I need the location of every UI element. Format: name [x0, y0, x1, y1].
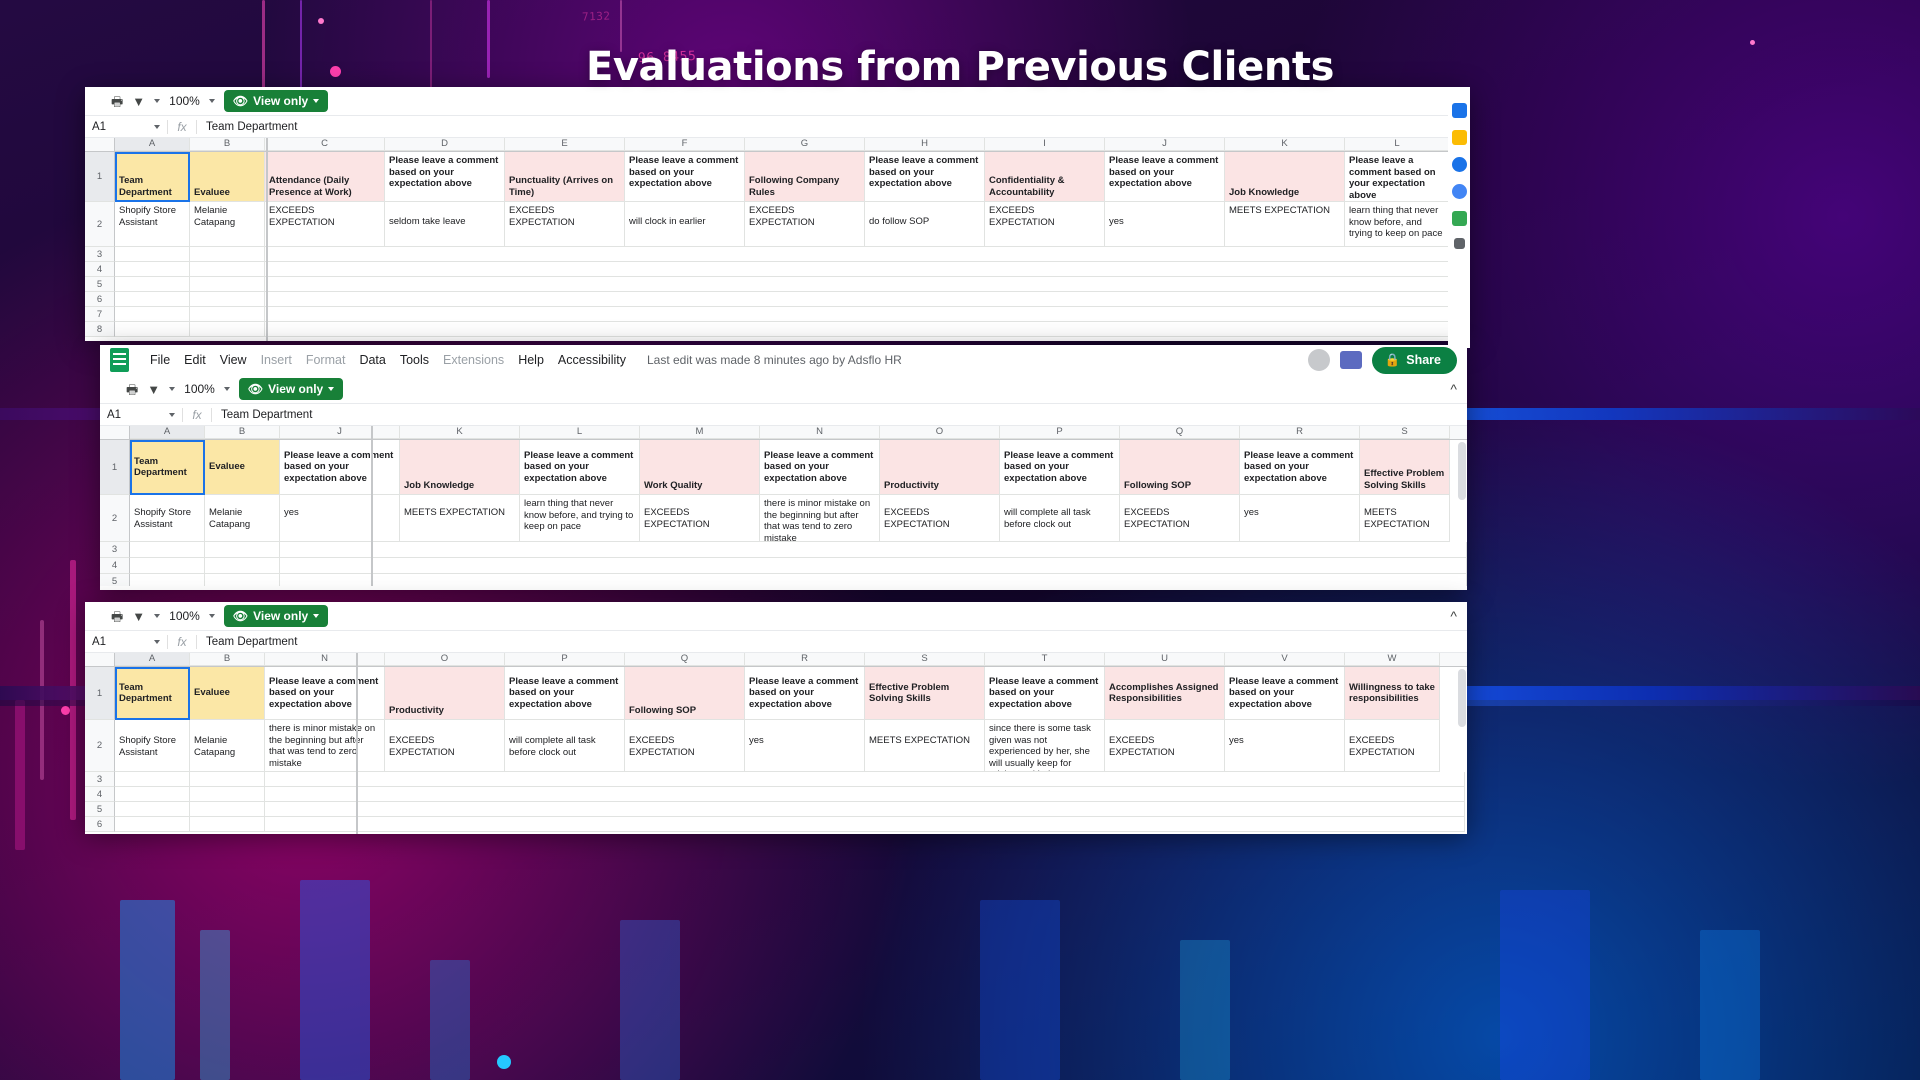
empty-cell[interactable] — [265, 322, 1470, 337]
cell-L2[interactable]: learn thing that never know before, and … — [520, 495, 640, 542]
menu-bar-right-2: 🔒 Share — [1308, 347, 1457, 374]
view-only-button[interactable]: 👁 View only — [224, 605, 328, 627]
cell-A1[interactable]: Team Department — [130, 440, 205, 495]
table-row-1: 1 Team Department Evaluee Attendance (Da… — [85, 152, 1470, 202]
cell-P1[interactable]: Please leave a comment based on your exp… — [505, 667, 625, 720]
cell-J2[interactable]: yes — [280, 495, 400, 542]
view-only-button[interactable]: 👁 View only — [239, 378, 343, 400]
cell-G1[interactable]: Following Company Rules — [745, 152, 865, 202]
view-only-caret-icon — [328, 387, 334, 391]
cell-A2[interactable]: Shopify Store Assistant — [115, 202, 190, 247]
empty-cell[interactable] — [190, 247, 265, 262]
filter-caret-icon[interactable] — [154, 99, 160, 103]
bg-dot — [61, 706, 70, 715]
col-header-R[interactable]: R — [1240, 426, 1360, 439]
row-header-4[interactable]: 4 — [85, 262, 115, 277]
cell-W1[interactable]: Willingness to take responsibilities — [1345, 667, 1440, 720]
cell-W2[interactable]: EXCEEDS EXPECTATION — [1345, 720, 1440, 772]
empty-cell[interactable] — [265, 262, 1470, 277]
col-header-M[interactable]: M — [640, 426, 760, 439]
menu-insert[interactable]: Insert — [254, 350, 299, 370]
name-box-2[interactable]: A1 — [100, 409, 182, 421]
table-row-4: 4 — [100, 558, 1467, 574]
contacts-icon[interactable] — [1452, 184, 1467, 199]
bg-bar — [15, 700, 25, 850]
cell-B1[interactable]: Evaluee — [190, 152, 265, 202]
empty-cell[interactable] — [190, 277, 265, 292]
empty-cell[interactable] — [130, 542, 205, 558]
select-all-corner-3[interactable] — [85, 653, 115, 666]
cell-N1[interactable]: Please leave a comment based on your exp… — [265, 667, 385, 720]
row-header-1[interactable]: 1 — [100, 440, 130, 495]
cell-O1[interactable]: Productivity — [880, 440, 1000, 495]
empty-cell[interactable] — [205, 574, 280, 586]
empty-cell[interactable] — [115, 262, 190, 277]
cell-O1[interactable]: Productivity — [385, 667, 505, 720]
col-header-C[interactable]: C — [265, 138, 385, 151]
name-box-caret-icon[interactable] — [154, 125, 160, 129]
toolbar-2[interactable]: 🖶 ▼ 100% 👁 View only ^ — [100, 375, 1467, 404]
zoom-level[interactable]: 100% — [169, 609, 200, 623]
cell-B2[interactable]: Melanie Catapang — [190, 720, 265, 772]
cell-O2[interactable]: EXCEEDS EXPECTATION — [880, 495, 1000, 542]
table-row-3: 3 — [85, 772, 1467, 787]
eye-icon: 👁 — [233, 94, 248, 108]
grid-1[interactable]: A B C D E F G H I J K L 1 Team Departmen… — [85, 138, 1470, 341]
cell-K2[interactable]: MEETS EXPECTATION — [400, 495, 520, 542]
col-header-S[interactable]: S — [1360, 426, 1450, 439]
row-header-6[interactable]: 6 — [85, 292, 115, 307]
table-row-5: 5 — [85, 277, 1470, 292]
frozen-column-divider-1 — [266, 138, 268, 341]
row-header-3[interactable]: 3 — [85, 247, 115, 262]
col-header-S[interactable]: S — [865, 653, 985, 666]
print-icon[interactable]: 🖶 — [111, 95, 123, 108]
formula-bar-3[interactable]: A1 fx Team Department — [85, 631, 1467, 653]
cell-V1[interactable]: Please leave a comment based on your exp… — [1225, 667, 1345, 720]
row-header-3[interactable]: 3 — [100, 542, 130, 558]
view-only-caret-icon — [313, 614, 319, 618]
cell-V2[interactable]: yes — [1225, 720, 1345, 772]
cell-R1[interactable]: Please leave a comment based on your exp… — [745, 667, 865, 720]
zoom-caret-icon[interactable] — [209, 99, 215, 103]
empty-cell[interactable] — [265, 277, 1470, 292]
table-row-1: 1 Team Department Evaluee Please leave a… — [100, 440, 1467, 495]
cell-R2[interactable]: yes — [745, 720, 865, 772]
empty-cell[interactable] — [115, 802, 190, 817]
toolbar-3[interactable]: 🖶 ▼ 100% 👁 View only ^ — [85, 602, 1467, 631]
cell-Q1[interactable]: Following SOP — [625, 667, 745, 720]
menu-format[interactable]: Format — [299, 350, 353, 370]
share-label: Share — [1406, 353, 1441, 367]
filter-icon[interactable]: ▼ — [132, 610, 145, 623]
filter-caret-icon[interactable] — [169, 387, 175, 391]
menu-data[interactable]: Data — [352, 350, 392, 370]
view-only-caret-icon — [313, 99, 319, 103]
col-header-B[interactable]: B — [190, 138, 265, 151]
col-header-B[interactable]: B — [205, 426, 280, 439]
cell-I2[interactable]: EXCEEDS EXPECTATION — [985, 202, 1105, 247]
eye-icon: 👁 — [248, 382, 263, 396]
bg-bar — [1500, 890, 1590, 1080]
cell-S1[interactable]: Effective Problem Solving Skills — [1360, 440, 1450, 495]
row-header-3[interactable]: 3 — [85, 772, 115, 787]
empty-cell[interactable] — [190, 292, 265, 307]
menu-view[interactable]: View — [213, 350, 254, 370]
filter-icon[interactable]: ▼ — [132, 95, 145, 108]
row-header-2[interactable]: 2 — [85, 202, 115, 247]
bg-bar — [200, 930, 230, 1080]
col-header-A[interactable]: A — [130, 426, 205, 439]
cell-S1[interactable]: Effective Problem Solving Skills — [865, 667, 985, 720]
col-header-N[interactable]: N — [760, 426, 880, 439]
empty-cell[interactable] — [115, 772, 190, 787]
cell-C1[interactable]: Attendance (Daily Presence at Work) — [265, 152, 385, 202]
column-header-row-2: A B J K L M N O P Q R S — [100, 426, 1467, 440]
col-header-K[interactable]: K — [400, 426, 520, 439]
google-side-rail[interactable] — [1448, 95, 1470, 348]
cell-G2[interactable]: EXCEEDS EXPECTATION — [745, 202, 865, 247]
empty-cell[interactable] — [130, 558, 205, 574]
cell-B2[interactable]: Melanie Catapang — [190, 202, 265, 247]
empty-cell[interactable] — [265, 247, 1470, 262]
col-header-R[interactable]: R — [745, 653, 865, 666]
name-box-3[interactable]: A1 — [85, 636, 167, 648]
col-header-O[interactable]: O — [880, 426, 1000, 439]
bg-bar — [430, 960, 470, 1080]
eye-icon: 👁 — [233, 609, 248, 623]
empty-cell[interactable] — [190, 307, 265, 322]
sheets-logo-icon — [110, 348, 129, 372]
cell-B1[interactable]: Evaluee — [190, 667, 265, 720]
grid-3[interactable]: A B N O P Q R S T U V W 1 Team Departmen… — [85, 653, 1467, 834]
col-header-D[interactable]: D — [385, 138, 505, 151]
row-header-4[interactable]: 4 — [85, 787, 115, 802]
spreadsheet-window-2[interactable]: File Edit View Insert Format Data Tools … — [100, 345, 1467, 590]
empty-cell[interactable] — [190, 322, 265, 337]
col-header-L[interactable]: L — [520, 426, 640, 439]
cell-T1[interactable]: Please leave a comment based on your exp… — [985, 667, 1105, 720]
cell-Q1[interactable]: Following SOP — [1120, 440, 1240, 495]
empty-cell[interactable] — [115, 787, 190, 802]
table-row-3: 3 — [85, 247, 1470, 262]
lock-icon: 🔒 — [1385, 353, 1401, 368]
col-header-W[interactable]: W — [1345, 653, 1440, 666]
menu-tools[interactable]: Tools — [393, 350, 436, 370]
cell-L1[interactable]: Please leave a comment based on your exp… — [520, 440, 640, 495]
cell-O2[interactable]: EXCEEDS EXPECTATION — [385, 720, 505, 772]
cell-L1[interactable]: Please leave a comment based on your exp… — [1345, 152, 1450, 202]
bg-bar — [1700, 930, 1760, 1080]
row-header-6[interactable]: 6 — [85, 817, 115, 832]
col-header-T[interactable]: T — [985, 653, 1105, 666]
cell-D1[interactable]: Please leave a comment based on your exp… — [385, 152, 505, 202]
name-box-caret-icon[interactable] — [169, 413, 175, 417]
col-header-I[interactable]: I — [985, 138, 1105, 151]
col-header-A[interactable]: A — [115, 138, 190, 151]
formula-content-1[interactable]: Team Department — [197, 121, 297, 133]
cell-L2[interactable]: learn thing that never know before, and … — [1345, 202, 1450, 247]
cell-S2[interactable]: MEETS EXPECTATION — [865, 720, 985, 772]
cell-A2[interactable]: Shopify Store Assistant — [130, 495, 205, 542]
vertical-scrollbar-3[interactable] — [1458, 669, 1466, 727]
zoom-caret-icon[interactable] — [224, 387, 230, 391]
col-header-N[interactable]: N — [265, 653, 385, 666]
table-row-5: 5 — [100, 574, 1467, 586]
empty-cell[interactable] — [190, 262, 265, 277]
cell-F2[interactable]: will clock in earlier — [625, 202, 745, 247]
add-icon[interactable] — [1454, 238, 1465, 249]
cell-K1[interactable]: Job Knowledge — [400, 440, 520, 495]
cell-K1[interactable]: Job Knowledge — [1225, 152, 1345, 202]
bg-bar — [980, 900, 1060, 1080]
col-header-B[interactable]: B — [190, 653, 265, 666]
cell-J1[interactable]: Please leave a comment based on your exp… — [280, 440, 400, 495]
table-row-7: 7 — [85, 307, 1470, 322]
cell-R2[interactable]: yes — [1240, 495, 1360, 542]
table-row-1: 1 Team Department Evaluee Please leave a… — [85, 667, 1467, 720]
view-only-label: View only — [268, 382, 323, 396]
cell-T2[interactable]: since there is some task given was not e… — [985, 720, 1105, 772]
cell-B2[interactable]: Melanie Catapang — [205, 495, 280, 542]
empty-cell[interactable] — [190, 802, 265, 817]
cell-U2[interactable]: EXCEEDS EXPECTATION — [1105, 720, 1225, 772]
empty-cell[interactable] — [265, 292, 1470, 307]
name-box-caret-icon[interactable] — [154, 640, 160, 644]
table-row-4: 4 — [85, 262, 1470, 277]
empty-cell[interactable] — [265, 772, 1465, 787]
cell-J1[interactable]: Please leave a comment based on your exp… — [1105, 152, 1225, 202]
name-box-1[interactable]: A1 — [85, 121, 167, 133]
col-header-Q[interactable]: Q — [1120, 426, 1240, 439]
empty-cell[interactable] — [280, 574, 1467, 586]
col-header-J[interactable]: J — [280, 426, 400, 439]
col-header-A[interactable]: A — [115, 653, 190, 666]
select-all-corner-1[interactable] — [85, 138, 115, 151]
empty-cell[interactable] — [115, 292, 190, 307]
empty-cell[interactable] — [265, 787, 1465, 802]
cell-A1[interactable]: Team Department — [115, 667, 190, 720]
menu-accessibility[interactable]: Accessibility — [551, 350, 633, 370]
keep-icon[interactable] — [1452, 130, 1467, 145]
vertical-scrollbar-2[interactable] — [1458, 442, 1466, 500]
spreadsheet-window-3[interactable]: 🖶 ▼ 100% 👁 View only ^ A1 fx Team Depart… — [85, 602, 1467, 832]
share-button[interactable]: 🔒 Share — [1372, 347, 1457, 374]
cell-S2[interactable]: MEETS EXPECTATION — [1360, 495, 1450, 542]
zoom-level[interactable]: 100% — [169, 94, 200, 108]
empty-cell[interactable] — [205, 558, 280, 574]
frozen-column-divider-2 — [371, 426, 373, 586]
col-header-O[interactable]: O — [385, 653, 505, 666]
cell-A2[interactable]: Shopify Store Assistant — [115, 720, 190, 772]
table-row-3: 3 — [100, 542, 1467, 558]
cell-H2[interactable]: do follow SOP — [865, 202, 985, 247]
comment-icon[interactable] — [1340, 351, 1362, 369]
cell-A1[interactable]: Team Department — [115, 152, 190, 202]
cell-P2[interactable]: will complete all task before clock out — [1000, 495, 1120, 542]
page-title: Evaluations from Previous Clients — [0, 44, 1920, 90]
cell-M1[interactable]: Work Quality — [640, 440, 760, 495]
fx-icon-2: fx — [182, 408, 212, 422]
empty-cell[interactable] — [115, 277, 190, 292]
bg-bar — [120, 900, 175, 1080]
view-only-button[interactable]: 👁 View only — [224, 90, 328, 112]
row-header-7[interactable]: 7 — [85, 307, 115, 322]
bg-number: 7132 — [582, 10, 611, 24]
empty-cell[interactable] — [130, 574, 205, 586]
select-all-corner-2[interactable] — [100, 426, 130, 439]
cell-P2[interactable]: will complete all task before clock out — [505, 720, 625, 772]
cell-P1[interactable]: Please leave a comment based on your exp… — [1000, 440, 1120, 495]
row-header-5[interactable]: 5 — [85, 802, 115, 817]
empty-cell[interactable] — [265, 307, 1470, 322]
table-row-4: 4 — [85, 787, 1467, 802]
bg-bar — [620, 920, 680, 1080]
col-header-G[interactable]: G — [745, 138, 865, 151]
zoom-caret-icon[interactable] — [209, 614, 215, 618]
table-row-2: 2 Shopify Store Assistant Melanie Catapa… — [85, 720, 1467, 772]
empty-cell[interactable] — [115, 322, 190, 337]
column-header-row-3: A B N O P Q R S T U V W — [85, 653, 1467, 667]
empty-cell[interactable] — [190, 772, 265, 787]
cell-E1[interactable]: Punctuality (Arrives on Time) — [505, 152, 625, 202]
row-header-2[interactable]: 2 — [100, 495, 130, 542]
empty-cell[interactable] — [115, 247, 190, 262]
row-header-1[interactable]: 1 — [85, 667, 115, 720]
filter-icon[interactable]: ▼ — [147, 383, 160, 396]
cell-M2[interactable]: EXCEEDS EXPECTATION — [640, 495, 760, 542]
cell-N2[interactable]: there is minor mistake on the beginning … — [265, 720, 385, 772]
col-header-E[interactable]: E — [505, 138, 625, 151]
empty-cell[interactable] — [265, 817, 1465, 832]
table-row-6: 6 — [85, 817, 1467, 832]
formula-bar-1[interactable]: A1 fx Team Department — [85, 116, 1470, 138]
cell-I1[interactable]: Confidentiality & Accountability — [985, 152, 1105, 202]
row-header-1[interactable]: 1 — [85, 152, 115, 202]
frozen-column-divider-3 — [356, 653, 358, 834]
avatar[interactable] — [1308, 349, 1330, 371]
col-header-Q[interactable]: Q — [625, 653, 745, 666]
menu-edit[interactable]: Edit — [177, 350, 213, 370]
view-only-label: View only — [253, 609, 308, 623]
fx-icon-1: fx — [167, 120, 197, 134]
cell-J2[interactable]: yes — [1105, 202, 1225, 247]
col-header-P[interactable]: P — [1000, 426, 1120, 439]
empty-cell[interactable] — [190, 817, 265, 832]
cell-C2[interactable]: EXCEEDS EXPECTATION — [265, 202, 385, 247]
cell-R1[interactable]: Please leave a comment based on your exp… — [1240, 440, 1360, 495]
fx-icon-3: fx — [167, 635, 197, 649]
collapse-toolbar-icon-3[interactable]: ^ — [1450, 608, 1457, 624]
cell-E2[interactable]: EXCEEDS EXPECTATION — [505, 202, 625, 247]
empty-cell[interactable] — [115, 817, 190, 832]
collapse-toolbar-icon-2[interactable]: ^ — [1450, 381, 1457, 397]
column-header-row-1: A B C D E F G H I J K L — [85, 138, 1470, 152]
formula-content-3[interactable]: Team Department — [197, 636, 297, 648]
cell-Q2[interactable]: EXCEEDS EXPECTATION — [625, 720, 745, 772]
table-row-5: 5 — [85, 802, 1467, 817]
filter-caret-icon[interactable] — [154, 614, 160, 618]
cell-N1[interactable]: Please leave a comment based on your exp… — [760, 440, 880, 495]
table-row-8: 8 — [85, 322, 1470, 337]
col-header-P[interactable]: P — [505, 653, 625, 666]
bg-bar — [1180, 940, 1230, 1080]
formula-bar-2[interactable]: A1 fx Team Department — [100, 404, 1467, 426]
row-header-2[interactable]: 2 — [85, 720, 115, 772]
table-row-2: 2 Shopify Store Assistant Melanie Catapa… — [100, 495, 1467, 542]
empty-cell[interactable] — [280, 558, 1467, 574]
cell-K2[interactable]: MEETS EXPECTATION — [1225, 202, 1345, 247]
maps-icon[interactable] — [1452, 211, 1467, 226]
cell-U1[interactable]: Accomplishes Assigned Responsibilities — [1105, 667, 1225, 720]
bg-bar — [300, 880, 370, 1080]
col-header-V[interactable]: V — [1225, 653, 1345, 666]
row-header-8[interactable]: 8 — [85, 322, 115, 337]
print-icon[interactable]: 🖶 — [126, 383, 138, 396]
col-header-L[interactable]: L — [1345, 138, 1450, 151]
table-row-6: 6 — [85, 292, 1470, 307]
col-header-K[interactable]: K — [1225, 138, 1345, 151]
menu-extensions[interactable]: Extensions — [436, 350, 511, 370]
row-header-5[interactable]: 5 — [85, 277, 115, 292]
cell-H1[interactable]: Please leave a comment based on your exp… — [865, 152, 985, 202]
empty-cell[interactable] — [190, 787, 265, 802]
grid-2[interactable]: A B J K L M N O P Q R S 1 Team Departmen… — [100, 426, 1467, 586]
cell-D2[interactable]: seldom take leave — [385, 202, 505, 247]
cell-B1[interactable]: Evaluee — [205, 440, 280, 495]
col-header-H[interactable]: H — [865, 138, 985, 151]
col-header-J[interactable]: J — [1105, 138, 1225, 151]
spreadsheet-window-1[interactable]: 🖶 ▼ 100% 👁 View only ^ A1 fx Team Depart… — [85, 87, 1470, 340]
empty-cell[interactable] — [205, 542, 280, 558]
row-header-5[interactable]: 5 — [100, 574, 130, 586]
toolbar-1[interactable]: 🖶 ▼ 100% 👁 View only ^ — [85, 87, 1470, 116]
cell-Q2[interactable]: EXCEEDS EXPECTATION — [1120, 495, 1240, 542]
menu-file[interactable]: File — [143, 350, 177, 370]
empty-cell[interactable] — [265, 802, 1465, 817]
col-header-F[interactable]: F — [625, 138, 745, 151]
row-header-4[interactable]: 4 — [100, 558, 130, 574]
tasks-icon[interactable] — [1452, 157, 1467, 172]
calendar-icon[interactable] — [1452, 103, 1467, 118]
empty-cell[interactable] — [115, 307, 190, 322]
zoom-level[interactable]: 100% — [184, 382, 215, 396]
last-edit-status: Last edit was made 8 minutes ago by Adsf… — [647, 353, 902, 367]
print-icon[interactable]: 🖶 — [111, 610, 123, 623]
formula-content-2[interactable]: Team Department — [212, 409, 312, 421]
bg-dot — [497, 1055, 511, 1069]
col-header-U[interactable]: U — [1105, 653, 1225, 666]
table-row-2: 2 Shopify Store Assistant Melanie Catapa… — [85, 202, 1470, 247]
cell-F1[interactable]: Please leave a comment based on your exp… — [625, 152, 745, 202]
empty-cell[interactable] — [280, 542, 1467, 558]
menu-bar-2[interactable]: File Edit View Insert Format Data Tools … — [100, 345, 1467, 375]
menu-help[interactable]: Help — [511, 350, 551, 370]
view-only-label: View only — [253, 94, 308, 108]
cell-N2[interactable]: there is minor mistake on the beginning … — [760, 495, 880, 542]
bg-dot — [318, 18, 324, 24]
